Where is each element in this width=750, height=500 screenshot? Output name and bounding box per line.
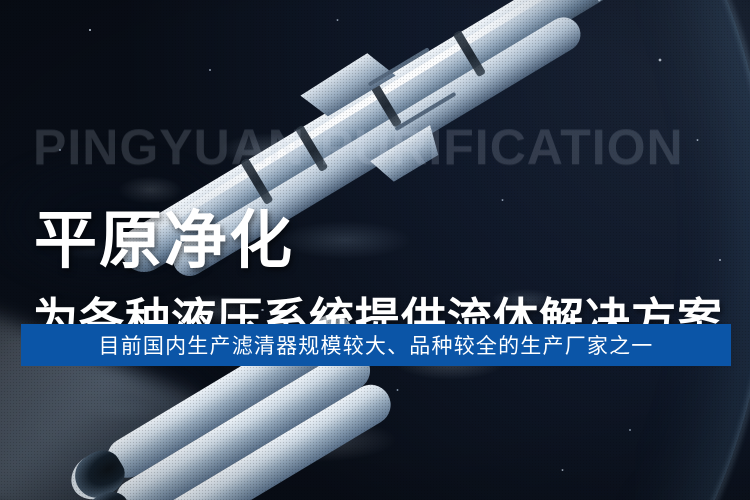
- tagline-text: 目前国内生产滤清器规模较大、品种较全的生产厂家之一: [99, 330, 654, 360]
- page-title: 平原净化: [34, 210, 294, 273]
- tagline-bar: 目前国内生产滤清器规模较大、品种较全的生产厂家之一: [21, 324, 731, 366]
- banner-content: PINGYUAN PURIFICATION 平原净化 为各种液压系统提供流体解决…: [0, 0, 750, 500]
- watermark-text: PINGYUAN PURIFICATION: [33, 118, 684, 176]
- promo-banner: PINGYUAN PURIFICATION 平原净化 为各种液压系统提供流体解决…: [0, 0, 750, 500]
